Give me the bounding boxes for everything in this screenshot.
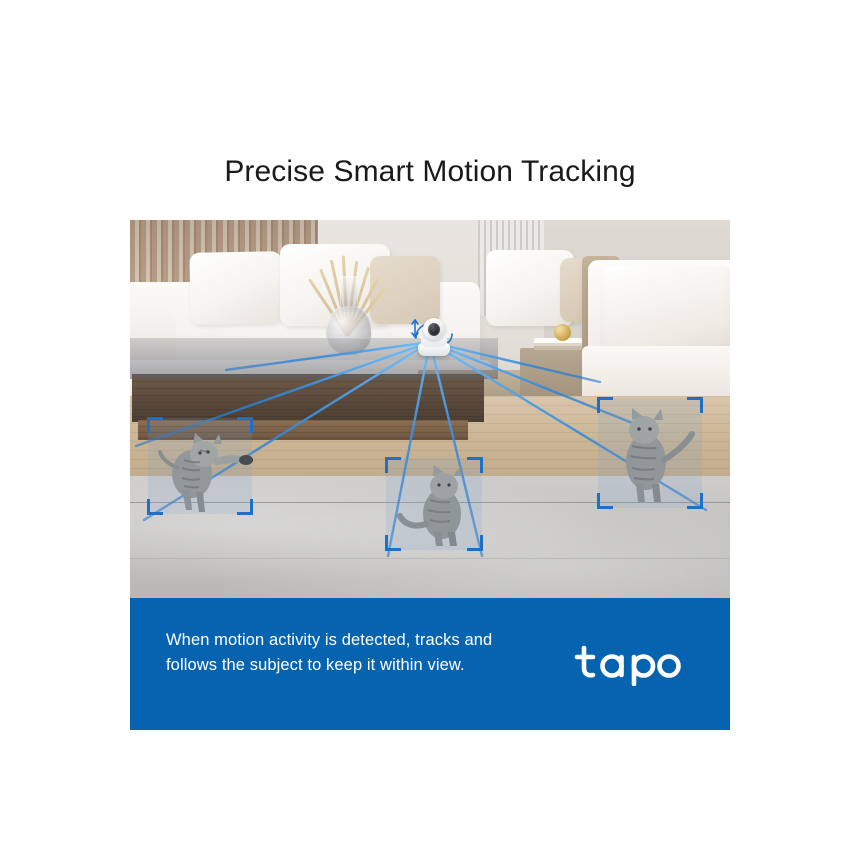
tracking-box <box>386 458 482 550</box>
bracket-top-left <box>597 397 613 413</box>
sofa-right-cushion <box>600 266 730 358</box>
tapo-logo <box>574 642 694 686</box>
caption-text: When motion activity is detected, tracks… <box>166 628 556 678</box>
hero-card: When motion activity is detected, tracks… <box>130 220 730 730</box>
pan-tilt-camera <box>408 312 460 356</box>
gold-sphere-decor <box>554 324 571 341</box>
caption-line-2: follows the subject to keep it within vi… <box>166 653 556 678</box>
bracket-bottom-left <box>147 499 163 515</box>
bracket-top-right <box>687 397 703 413</box>
bracket-bottom-right <box>467 535 483 551</box>
scene-photo <box>130 220 730 598</box>
page-title: Precise Smart Motion Tracking <box>0 152 860 192</box>
camera-lens-icon <box>428 323 440 336</box>
bracket-top-right <box>467 457 483 473</box>
pillow <box>189 251 282 325</box>
tapo-wordmark-icon <box>574 642 694 686</box>
bracket-top-right <box>237 417 253 433</box>
tile-seam <box>130 558 730 559</box>
caption-line-1: When motion activity is detected, tracks… <box>166 628 556 653</box>
bracket-bottom-left <box>597 493 613 509</box>
page-root: Precise Smart Motion Tracking <box>0 0 860 860</box>
coffee-table-wood-top <box>132 374 484 422</box>
bracket-bottom-right <box>237 499 253 515</box>
bracket-top-left <box>385 457 401 473</box>
tracking-box <box>148 418 252 514</box>
bracket-bottom-left <box>385 535 401 551</box>
caption-banner: When motion activity is detected, tracks… <box>130 598 730 730</box>
tracking-box <box>598 398 702 508</box>
bracket-bottom-right <box>687 493 703 509</box>
bracket-top-left <box>147 417 163 433</box>
